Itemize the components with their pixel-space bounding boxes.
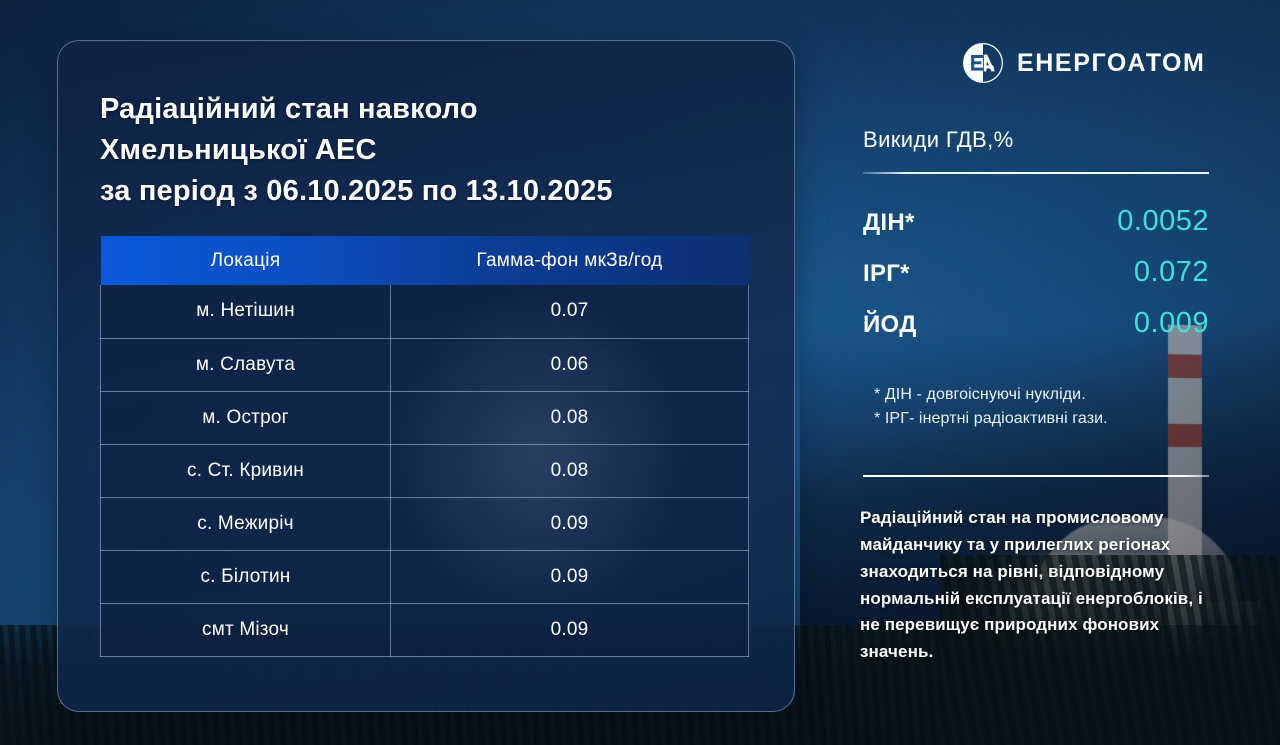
- metric-value-iod: 0.009: [1134, 307, 1209, 340]
- brand-logo: ЕНЕРГОАТОМ: [962, 42, 1205, 84]
- cell-gamma: 0.09: [391, 603, 749, 656]
- table-header-row: Локація Гамма-фон мкЗв/год: [101, 236, 749, 285]
- summary-text: Радіаційний стан на промисловому майданч…: [860, 505, 1216, 666]
- page-title-line-2: Хмельницької АЕС: [100, 130, 760, 171]
- column-header-gamma: Гамма-фон мкЗв/год: [391, 236, 749, 285]
- footnote-din: * ДІН - довгоіснуючі нукліди.: [874, 383, 1224, 407]
- table-head: Локація Гамма-фон мкЗв/год: [101, 236, 749, 285]
- table-row: с. Межиріч 0.09: [101, 497, 749, 550]
- radiation-card: Радіаційний стан навколо Хмельницької АЕ…: [57, 40, 795, 712]
- metric-row-irg: ІРГ* 0.072: [863, 256, 1209, 289]
- table-body: м. Нетішин 0.07 м. Славута 0.06 м. Остро…: [101, 285, 749, 656]
- table-row: м. Нетішин 0.07: [101, 285, 749, 338]
- cell-gamma: 0.09: [391, 497, 749, 550]
- table-row: с. Ст. Кривин 0.08: [101, 444, 749, 497]
- cell-location: с. Ст. Кривин: [101, 444, 391, 497]
- cell-gamma: 0.08: [391, 391, 749, 444]
- divider-top: [863, 172, 1209, 174]
- cell-gamma: 0.06: [391, 338, 749, 391]
- radiation-table: Локація Гамма-фон мкЗв/год м. Нетішин 0.…: [100, 236, 749, 657]
- cell-location: м. Нетішин: [101, 285, 391, 338]
- page-title-line-3: за період з 06.10.2025 по 13.10.2025: [100, 171, 760, 212]
- column-header-location: Локація: [101, 236, 391, 285]
- footnote-irg: * ІРГ- інертні радіоактивні гази.: [874, 407, 1224, 431]
- infographic-root: Радіаційний стан навколо Хмельницької АЕ…: [0, 0, 1280, 745]
- right-panel: ЕНЕРГОАТОМ Викиди ГДВ,% ДІН* 0.0052 ІРГ*…: [852, 0, 1224, 745]
- table-row: смт Мізоч 0.09: [101, 603, 749, 656]
- cell-location: с. Білотин: [101, 550, 391, 603]
- cell-location: смт Мізоч: [101, 603, 391, 656]
- brand-name: ЕНЕРГОАТОМ: [1017, 49, 1205, 78]
- metric-row-din: ДІН* 0.0052: [863, 205, 1209, 238]
- cell-gamma: 0.09: [391, 550, 749, 603]
- radiation-table-wrapper: Локація Гамма-фон мкЗв/год м. Нетішин 0.…: [100, 236, 748, 657]
- cell-location: с. Межиріч: [101, 497, 391, 550]
- cell-location: м. Острог: [101, 391, 391, 444]
- footnotes: * ДІН - довгоіснуючі нукліди. * ІРГ- іне…: [874, 383, 1224, 432]
- metric-value-din: 0.0052: [1117, 205, 1209, 238]
- cell-location: м. Славута: [101, 338, 391, 391]
- emissions-title: Викиди ГДВ,%: [863, 127, 1014, 153]
- page-title-line-1: Радіаційний стан навколо: [100, 89, 760, 130]
- table-row: м. Острог 0.08: [101, 391, 749, 444]
- table-row: м. Славута 0.06: [101, 338, 749, 391]
- cell-gamma: 0.08: [391, 444, 749, 497]
- metric-label-din: ДІН*: [863, 209, 915, 237]
- metric-label-iod: ЙОД: [863, 311, 917, 339]
- table-row: с. Білотин 0.09: [101, 550, 749, 603]
- metric-value-irg: 0.072: [1134, 256, 1209, 289]
- metric-row-iod: ЙОД 0.009: [863, 307, 1209, 340]
- divider-bottom: [863, 475, 1209, 477]
- metric-label-irg: ІРГ*: [863, 260, 910, 288]
- page-title: Радіаційний стан навколо Хмельницької АЕ…: [100, 89, 760, 213]
- cell-gamma: 0.07: [391, 285, 749, 338]
- energoatom-logo-icon: [962, 42, 1004, 84]
